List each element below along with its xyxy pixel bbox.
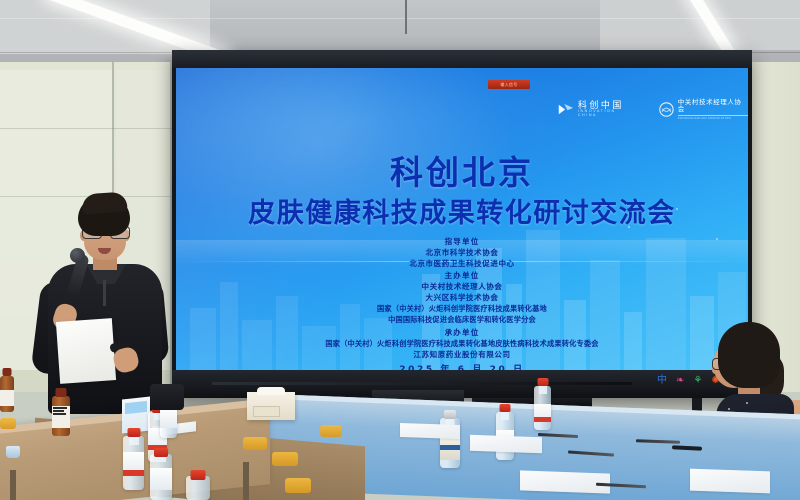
organizer-org-2: 江苏知原药业股份有限公司 bbox=[176, 349, 748, 360]
ceiling-hanger-rod bbox=[405, 0, 407, 34]
display-top-bezel bbox=[172, 50, 752, 68]
water-bottle-6 bbox=[150, 448, 172, 500]
paper-right-4 bbox=[690, 469, 770, 494]
input-signal-label: 输入信号 bbox=[488, 80, 530, 89]
host-org-1: 中关村技术经理人协会 bbox=[176, 281, 748, 292]
slide-subtitle: 皮肤健康科技成果转化研讨交流会 bbox=[176, 191, 748, 230]
water-bottle-1 bbox=[534, 378, 551, 430]
association-mark bbox=[659, 102, 674, 117]
chair-back bbox=[150, 384, 184, 410]
host-org-3: 国家（中关村）火炬科创学院医疗科技成果转化基地 bbox=[176, 303, 748, 314]
speaker-grille bbox=[212, 382, 632, 385]
innovation-china-mark bbox=[558, 103, 574, 116]
section-heading-host: 主办单位 bbox=[176, 270, 748, 281]
slide-title: 科创北京 bbox=[176, 146, 748, 194]
snack-item-2 bbox=[272, 452, 298, 466]
slide-date: 2025 年 6 月 20 日 bbox=[176, 362, 748, 370]
tea-bottle-2 bbox=[0, 368, 14, 412]
leaf-icon[interactable]: ❧ bbox=[676, 376, 684, 386]
speaker-placket bbox=[103, 280, 106, 306]
input-signal-badge: 输入信号 bbox=[488, 80, 530, 89]
cup-left bbox=[6, 446, 20, 458]
kechuang-china-en: INNOVATION CHINA bbox=[578, 110, 637, 118]
presentation-display[interactable]: 科创中国 INNOVATION CHINA 中关村技术经理人协会 ZHONGGU… bbox=[172, 50, 752, 398]
association-en: ZHONGGUANCUN ASSOCIATION bbox=[678, 116, 748, 120]
host-org-4: 中国国际科技促进会临床医学和转化医学分会 bbox=[176, 314, 748, 325]
water-bottle-7 bbox=[186, 470, 210, 500]
slide-logo-row: 科创中国 INNOVATION CHINA 中关村技术经理人协会 ZHONGGU… bbox=[558, 99, 748, 120]
snack-item-4 bbox=[320, 425, 342, 437]
water-bottle-8 bbox=[440, 410, 460, 468]
conference-room-photo: 科创中国 INNOVATION CHINA 中关村技术经理人协会 ZHONGGU… bbox=[0, 0, 800, 500]
microphone-head bbox=[70, 248, 85, 263]
snack-item-3 bbox=[285, 478, 311, 493]
table-leg-mid bbox=[243, 462, 249, 500]
input-cn-icon[interactable]: 中 bbox=[657, 376, 667, 386]
table-leg-left bbox=[10, 470, 16, 500]
association-cn: 中关村技术经理人协会 bbox=[678, 99, 748, 114]
name-card-strip bbox=[125, 401, 147, 414]
slide-canvas: 科创中国 INNOVATION CHINA 中关村技术经理人协会 ZHONGGU… bbox=[176, 68, 748, 370]
speaker-paper-sheet bbox=[56, 318, 116, 384]
association-logo: 中关村技术经理人协会 ZHONGGUANCUN ASSOCIATION bbox=[659, 99, 748, 120]
section-heading-organizer: 承办单位 bbox=[176, 327, 748, 338]
water-bottle-5 bbox=[123, 428, 144, 490]
snack-item-1 bbox=[243, 437, 267, 450]
tea-bottle bbox=[52, 388, 70, 436]
tissue-box-label bbox=[253, 406, 280, 417]
speaker-hair-top bbox=[81, 191, 127, 214]
tissue-box bbox=[247, 392, 295, 420]
attendee-hair bbox=[718, 322, 780, 388]
guidance-org-1: 北京市科学技术协会 bbox=[176, 247, 748, 258]
paper-right-1 bbox=[400, 423, 460, 439]
tissue-sheet bbox=[257, 387, 286, 395]
paper-right-2 bbox=[470, 435, 542, 454]
guidance-org-2: 北京市医药卫生科技促进中心 bbox=[176, 258, 748, 269]
kechuang-china-logo: 科创中国 INNOVATION CHINA bbox=[558, 101, 637, 118]
host-org-2: 大兴区科学技术协会 bbox=[176, 292, 748, 303]
snack-item-left bbox=[0, 418, 16, 429]
section-heading-guidance: 指导单位 bbox=[176, 236, 748, 247]
organizer-org-1: 国家（中关村）火炬科创学院医疗科技成果转化基地皮肤性病科技术成果转化专委会 bbox=[176, 338, 748, 349]
